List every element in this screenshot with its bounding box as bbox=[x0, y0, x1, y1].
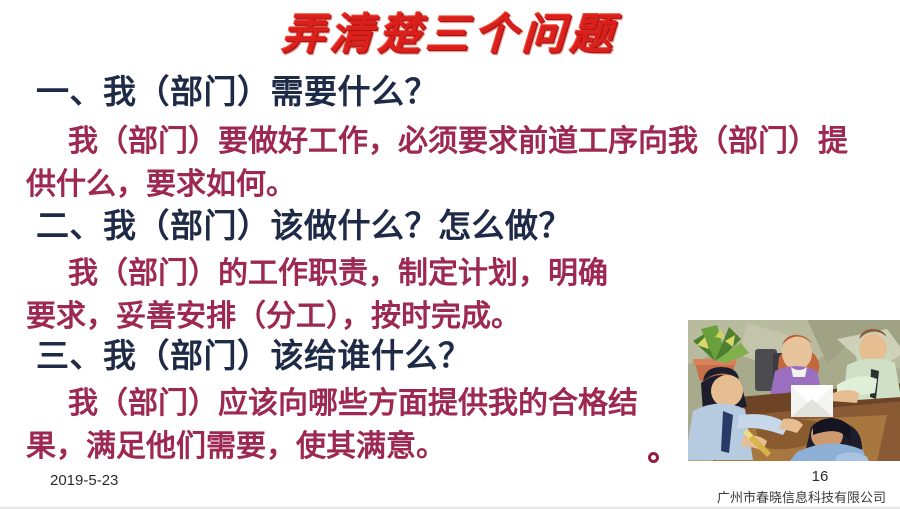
business-meeting-image bbox=[687, 319, 900, 462]
section-body-3: 我（部门）应该向哪些方面提供我的合格结果，满足他们需要，使其满意。 bbox=[26, 382, 666, 468]
section-body-1: 我（部门）要做好工作，必须要求前道工序向我（部门）提供什么，要求如何。 bbox=[26, 120, 854, 206]
section-body-2: 我（部门）的工作职责，制定计划，明确要求，妥善安排（分工），按时完成。 bbox=[26, 252, 636, 338]
page-number: 16 bbox=[0, 468, 900, 485]
section-heading-1: 一、我（部门）需要什么？ bbox=[36, 72, 438, 112]
business-meeting-clipart bbox=[687, 319, 900, 462]
bullet-marker-icon bbox=[648, 452, 659, 463]
presentation-slide: 弄清楚三个问题 一、我（部门）需要什么？ 我（部门）要做好工作，必须要求前道工序… bbox=[0, 0, 900, 509]
slide-title: 弄清楚三个问题 bbox=[0, 8, 900, 62]
footer-company-name: 广州市春晓信息科技有限公司 bbox=[717, 487, 886, 506]
section-heading-3: 三、我（部门）该给谁什么？ bbox=[36, 336, 472, 376]
section-heading-2: 二、我（部门）该做什么？怎么做？ bbox=[36, 206, 572, 246]
